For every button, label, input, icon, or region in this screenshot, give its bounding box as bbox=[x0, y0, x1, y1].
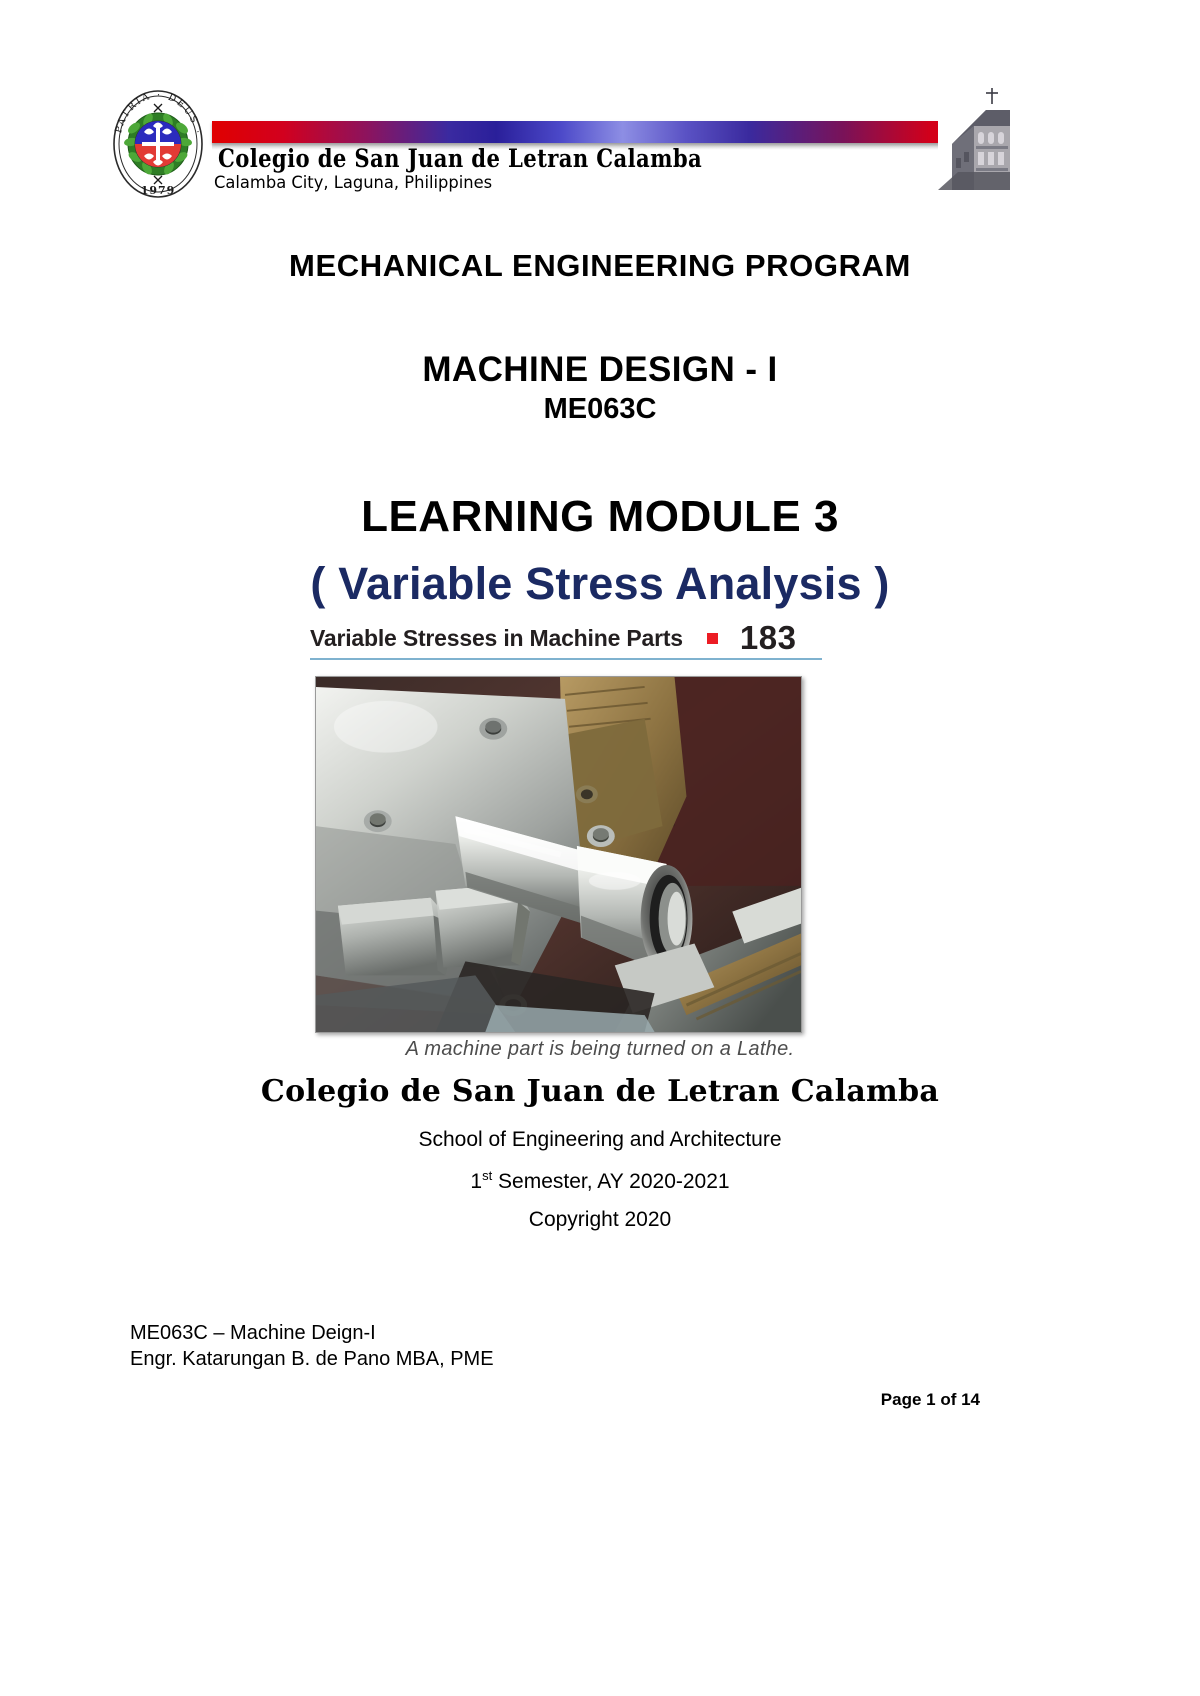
semester-year-range: Semester, AY 2020-2021 bbox=[492, 1170, 729, 1193]
textbook-header-rule bbox=[310, 658, 822, 660]
module-title: LEARNING MODULE 3 bbox=[0, 492, 1200, 542]
publisher-semester: 1st Semester, AY 2020-2021 bbox=[0, 1168, 1200, 1194]
letterhead: PATRIA · DEUS · LETRAN bbox=[0, 0, 1200, 225]
letran-building-photo bbox=[938, 86, 1010, 190]
course-title: MACHINE DESIGN - I bbox=[0, 350, 1200, 390]
document-page: PATRIA · DEUS · LETRAN bbox=[0, 0, 1200, 1696]
footer-course-line: ME063C – Machine Deign-I bbox=[130, 1322, 376, 1345]
letterhead-address: Calamba City, Laguna, Philippines bbox=[214, 173, 492, 193]
letterhead-gradient-bar bbox=[212, 121, 1002, 143]
textbook-page-number: 183 bbox=[740, 619, 797, 657]
program-title: MECHANICAL ENGINEERING PROGRAM bbox=[0, 248, 1200, 284]
publisher-school-name: Colegio de San Juan de Letran Calamba bbox=[0, 1074, 1200, 1109]
semester-ordinal-suffix: st bbox=[482, 1168, 492, 1183]
textbook-chapter-title: Variable Stresses in Machine Parts bbox=[310, 625, 683, 652]
svg-text:1979: 1979 bbox=[141, 184, 176, 197]
textbook-page-header: Variable Stresses in Machine Parts 183 bbox=[310, 620, 822, 664]
publisher-department: School of Engineering and Architecture bbox=[0, 1128, 1200, 1152]
publisher-copyright: Copyright 2020 bbox=[0, 1208, 1200, 1232]
footer-author-line: Engr. Katarungan B. de Pano MBA, PME bbox=[130, 1348, 494, 1371]
course-code: ME063C bbox=[0, 393, 1200, 426]
photo-caption: A machine part is being turned on a Lath… bbox=[0, 1038, 1200, 1061]
footer-page-number: Page 1 of 14 bbox=[881, 1390, 980, 1410]
school-seal-logo: PATRIA · DEUS · LETRAN bbox=[104, 84, 212, 204]
module-subtitle: ( Variable Stress Analysis ) bbox=[0, 558, 1200, 610]
lathe-photograph bbox=[315, 676, 802, 1033]
red-square-bullet-icon bbox=[707, 633, 718, 644]
letterhead-institution-name: Colegio de San Juan de Letran Calamba bbox=[218, 144, 702, 173]
semester-number: 1 bbox=[470, 1170, 482, 1193]
